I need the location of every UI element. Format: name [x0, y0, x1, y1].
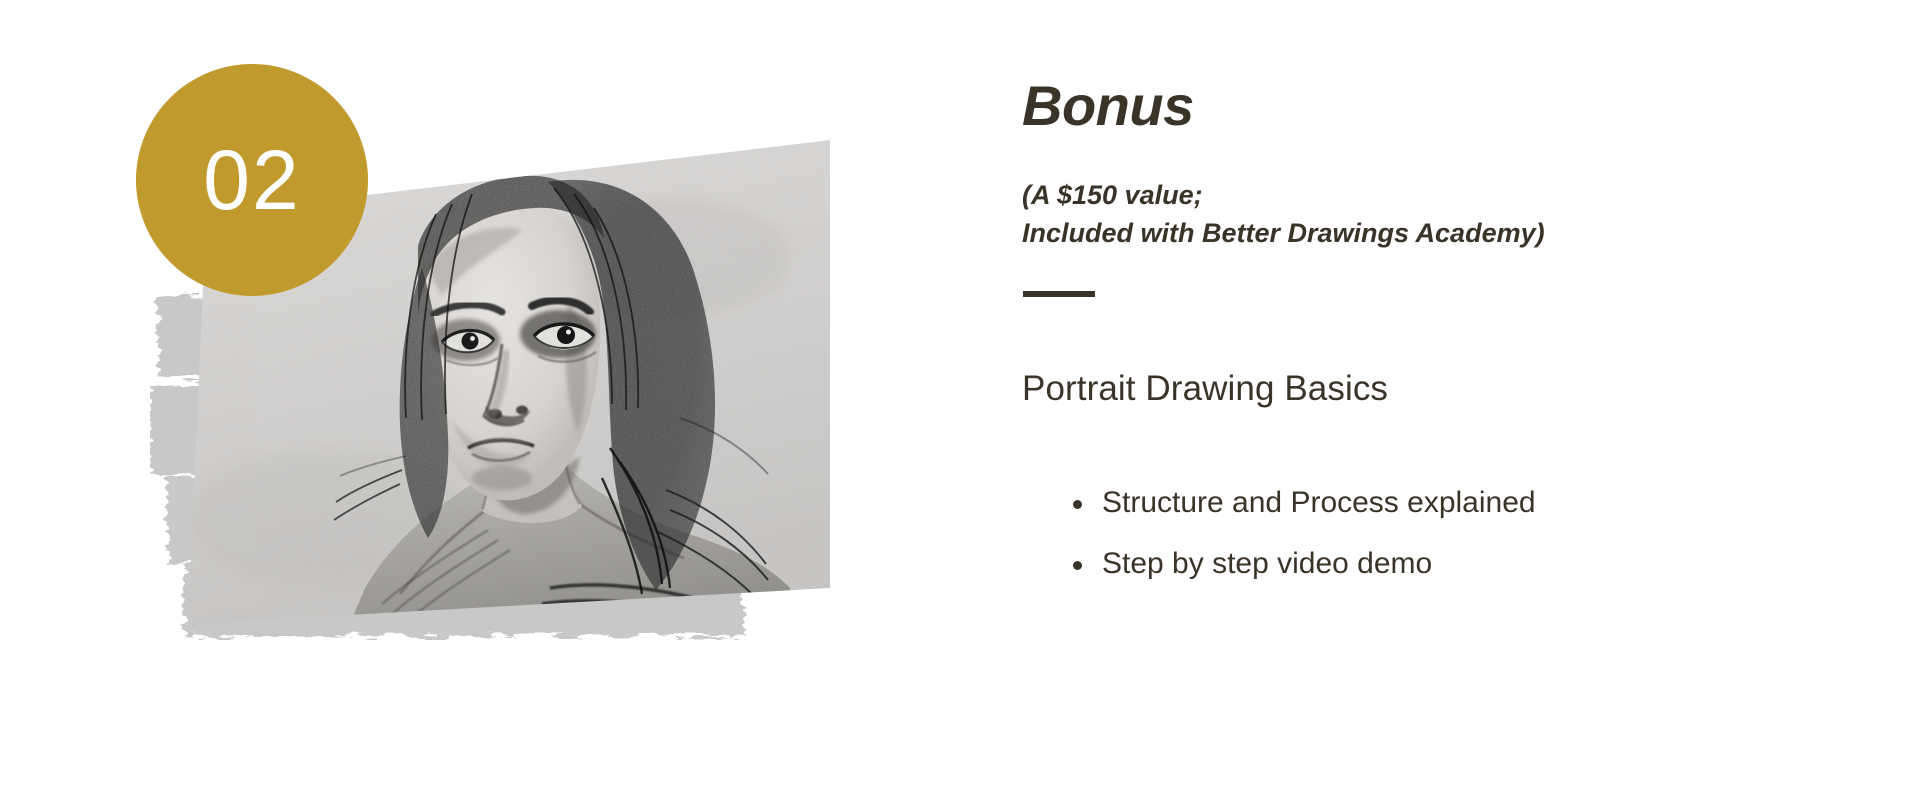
bullet-dot-icon — [1073, 561, 1082, 570]
feature-list: Structure and Process explained Step by … — [1055, 488, 1536, 610]
bonus-label: Bonus — [1022, 78, 1194, 134]
module-number-badge: 02 — [136, 64, 368, 296]
list-item: Step by step video demo — [1055, 549, 1536, 579]
section-divider — [1023, 291, 1095, 297]
list-item: Structure and Process explained — [1055, 488, 1536, 518]
bonus-module-slide: 02 Bonus (A $150 value; Included with Be… — [0, 0, 1920, 800]
bullet-dot-icon — [1073, 500, 1082, 509]
value-note-line-1: (A $150 value; — [1022, 176, 1545, 214]
list-item-label: Step by step video demo — [1102, 547, 1432, 580]
section-heading: Portrait Drawing Basics — [1022, 368, 1388, 410]
content-panel: Bonus (A $150 value; Included with Bette… — [1022, 0, 1882, 800]
list-item-label: Structure and Process explained — [1102, 486, 1536, 519]
visual-panel: 02 — [0, 0, 1000, 800]
module-number-text: 02 — [203, 138, 300, 222]
value-note: (A $150 value; Included with Better Draw… — [1022, 176, 1545, 253]
value-note-line-2: Included with Better Drawings Academy) — [1022, 214, 1545, 252]
